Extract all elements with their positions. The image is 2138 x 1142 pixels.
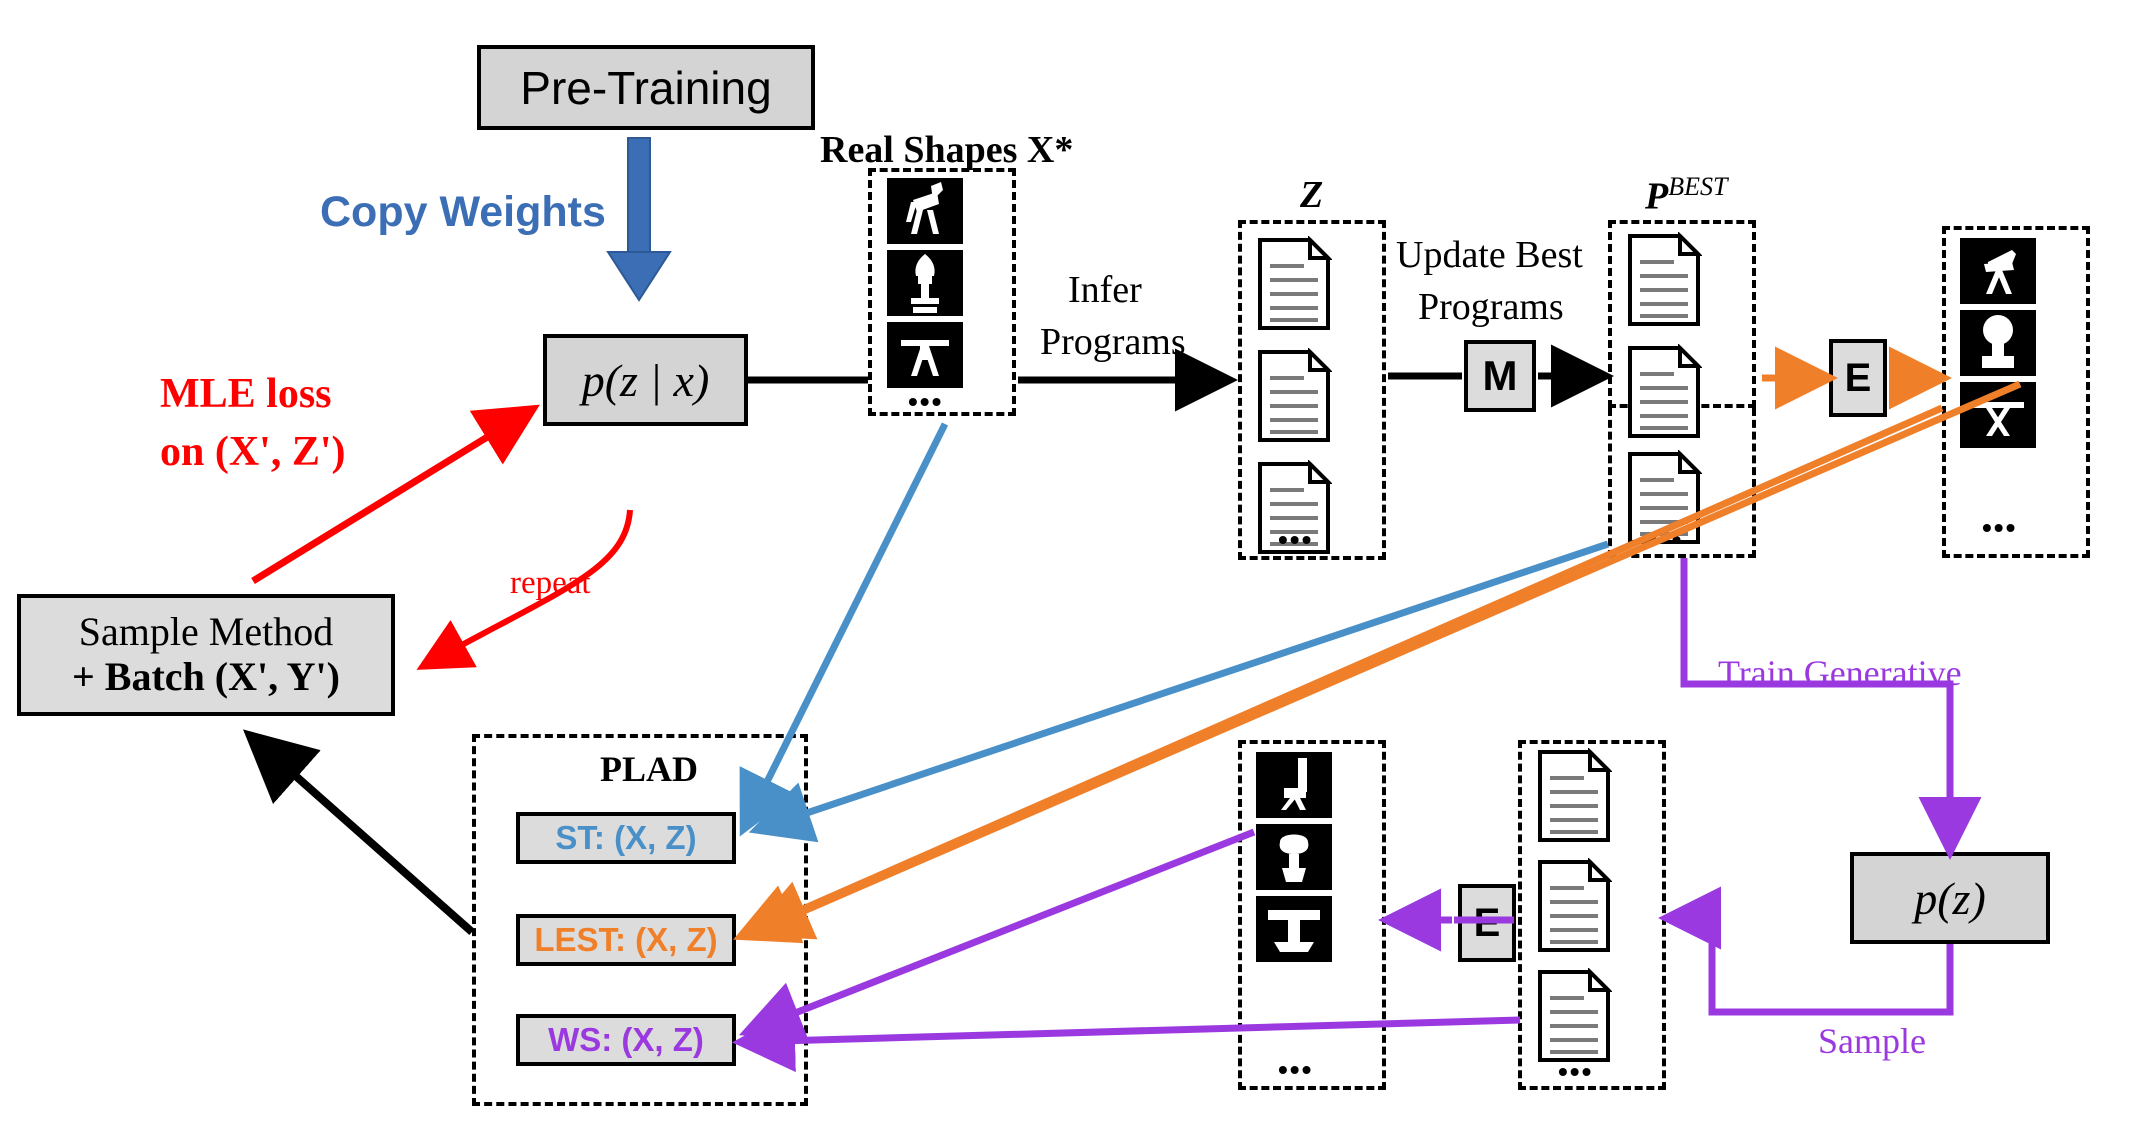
shape-tile-table-splay-legs xyxy=(887,322,963,388)
prior-label: p(z) xyxy=(1914,872,1986,925)
encoder-box[interactable]: p(z | x) xyxy=(543,334,748,426)
e-box-bottom-label: E xyxy=(1474,901,1501,946)
plad-row-lest[interactable]: LEST: (X, Z) xyxy=(516,914,736,966)
shape-tile-chair-tall-back xyxy=(887,178,963,244)
pbest-label-main: P xyxy=(1645,176,1668,218)
plad-row-lest-label: LEST: (X, Z) xyxy=(534,921,717,959)
real-shapes-ellipsis: ••• xyxy=(908,386,943,418)
plad-row-ws[interactable]: WS: (X, Z) xyxy=(516,1014,736,1066)
shape-tile-chair-side-arm xyxy=(1960,238,2036,304)
document-icon xyxy=(1536,748,1612,844)
pre-training-box[interactable]: Pre-Training xyxy=(477,45,815,130)
z-label: Z xyxy=(1300,173,1323,217)
train-generative-label: Train Generative xyxy=(1718,652,1962,694)
train-generative-path xyxy=(1684,558,1950,846)
e-box-top-label: E xyxy=(1845,356,1872,401)
plad-title: PLAD xyxy=(600,748,698,790)
repeat-label: repeat xyxy=(510,565,591,602)
document-icon xyxy=(1256,348,1332,444)
sample-label: Sample xyxy=(1818,1020,1926,1062)
m-box-label: M xyxy=(1483,352,1518,400)
mle-loss-label-line1: MLE loss xyxy=(160,370,332,418)
infer-programs-label-line1: Infer xyxy=(1068,268,1142,312)
update-best-label-line2: Programs xyxy=(1418,285,1564,329)
plad-to-sample-method-arrow xyxy=(255,740,472,932)
sample-method-line2: + Batch (X', Y') xyxy=(72,655,340,700)
sample-method-line1: Sample Method xyxy=(79,610,333,655)
document-icon xyxy=(1536,858,1612,954)
z-panel-ellipsis: ••• xyxy=(1278,524,1313,556)
ws-arrow-from-sampled-programs xyxy=(746,1020,1520,1042)
pbest-panel-ellipsis: ••• xyxy=(1648,524,1683,556)
mle-loss-label-line2: on (X', Z') xyxy=(160,428,346,476)
e-box-top[interactable]: E xyxy=(1829,339,1887,417)
plad-row-st-label: ST: (X, Z) xyxy=(555,819,696,857)
prior-box[interactable]: p(z) xyxy=(1850,852,2050,944)
update-best-label-line1: Update Best xyxy=(1396,233,1583,277)
e-box-bottom[interactable]: E xyxy=(1458,884,1516,962)
ws-arrow-from-generated-shapes xyxy=(752,832,1254,1030)
diagram-canvas: Pre-Training Copy Weights p(z | x) MLE l… xyxy=(0,0,2138,1142)
shape-tile-table-x-legs xyxy=(1960,382,2036,448)
st-arrow-from-pbest xyxy=(762,544,1608,828)
document-icon xyxy=(1256,236,1332,332)
encoder-label: p(z | x) xyxy=(582,354,710,407)
pbest-shapes-ellipsis: ••• xyxy=(1982,512,2017,544)
copy-weights-arrow xyxy=(608,138,670,300)
infer-programs-label-line2: Programs xyxy=(1040,320,1186,364)
shape-tile-lamp-round-shade xyxy=(1960,310,2036,376)
shape-tile-lamp-wide-shade xyxy=(1256,824,1332,890)
sample-method-box[interactable]: Sample Method + Batch (X', Y') xyxy=(17,594,395,716)
document-icon xyxy=(1536,968,1612,1064)
copy-weights-label: Copy Weights xyxy=(320,188,606,237)
real-shapes-label: Real Shapes X* xyxy=(820,128,1073,172)
plad-row-st[interactable]: ST: (X, Z) xyxy=(516,812,736,864)
shape-tile-lamp-shade xyxy=(887,250,963,316)
pbest-label: PBEST xyxy=(1645,172,1727,219)
m-box[interactable]: M xyxy=(1464,340,1536,412)
shape-tile-table-wide-top xyxy=(1256,896,1332,962)
pre-training-label: Pre-Training xyxy=(520,61,771,115)
shape-tile-chair-narrow-back xyxy=(1256,752,1332,818)
generated-shapes-ellipsis: ••• xyxy=(1278,1054,1313,1086)
plad-row-ws-label: WS: (X, Z) xyxy=(548,1021,704,1059)
pbest-label-sup: BEST xyxy=(1668,172,1727,201)
document-icon xyxy=(1626,232,1702,328)
sampled-programs-ellipsis: ••• xyxy=(1558,1056,1593,1088)
